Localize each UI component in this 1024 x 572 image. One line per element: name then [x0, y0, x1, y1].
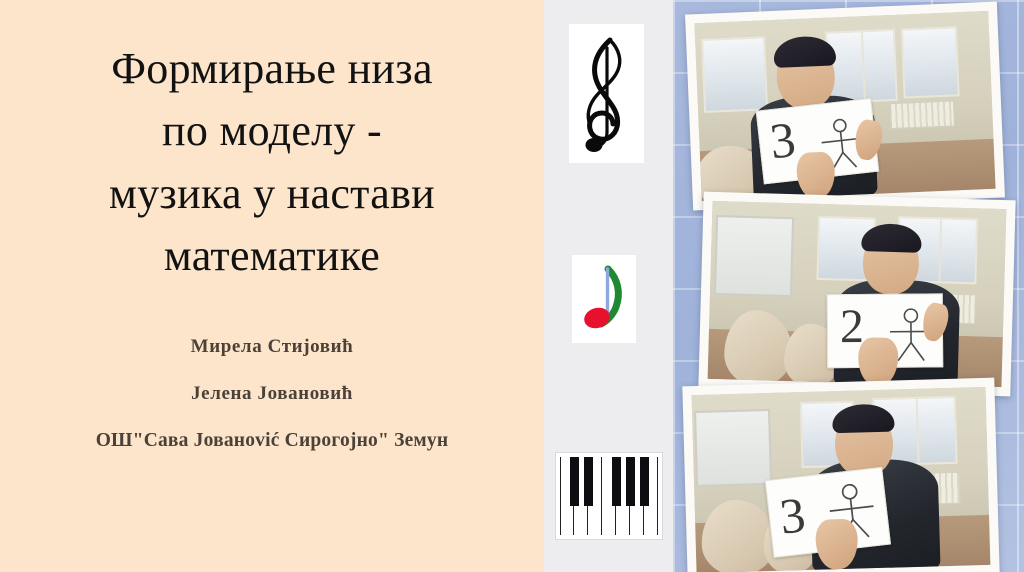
answer-card-number: 3 [777, 489, 808, 542]
treble-clef-icon [577, 32, 637, 156]
piano-black-key [640, 457, 649, 506]
eighth-note-icon [580, 263, 628, 335]
piano-keyboard-card: Piano keyboard [555, 452, 663, 540]
clef-dot-icon [585, 138, 602, 152]
eighth-note-card: Eighth note [572, 255, 636, 343]
title-line-1: Формирање низа [0, 38, 544, 100]
piano-black-key [612, 457, 621, 506]
window [901, 26, 960, 98]
window [701, 36, 768, 113]
piano-black-key [584, 457, 593, 506]
title-panel: Формирање низа по моделу - музика у наст… [0, 0, 544, 572]
photo-student-card-2-middle: 2 [698, 192, 1015, 397]
piano-black-key [570, 457, 579, 506]
title-line-2: по моделу - [0, 100, 544, 162]
school-name: ОШ"Сава Јованović Сирогојно" Земун [0, 430, 544, 452]
whiteboard-on-wall [694, 409, 772, 487]
treble-clef-card: Треble clef [569, 24, 644, 163]
author-name-1: Мирела Стијовић [0, 336, 544, 358]
author-name-2: Јелена Јовановић [0, 383, 544, 405]
window [825, 29, 898, 104]
title-line-4: математике [0, 225, 544, 287]
music-symbol-strip: Треble clef Eighth note Piano [544, 0, 673, 572]
radiator [890, 100, 955, 129]
piano-black-key [626, 457, 635, 506]
photo-student-card-3-bottom: 3 [682, 378, 999, 572]
presentation-slide: Формирање низа по моделу - музика у наст… [0, 0, 1024, 572]
photo-collage-panel: 3 [673, 0, 1024, 572]
piano-keyboard-icon [560, 457, 658, 535]
whiteboard-on-wall [714, 215, 794, 297]
slide-title: Формирање низа по моделу - музика у наст… [0, 38, 544, 288]
title-line-3: музика у настави [0, 163, 544, 225]
answer-card-number: 3 [767, 114, 797, 166]
photo-student-card-3-top: 3 [685, 2, 1005, 211]
author-block: Мирела Стијовић Јелена Јовановић ОШ"Сава… [0, 336, 544, 452]
